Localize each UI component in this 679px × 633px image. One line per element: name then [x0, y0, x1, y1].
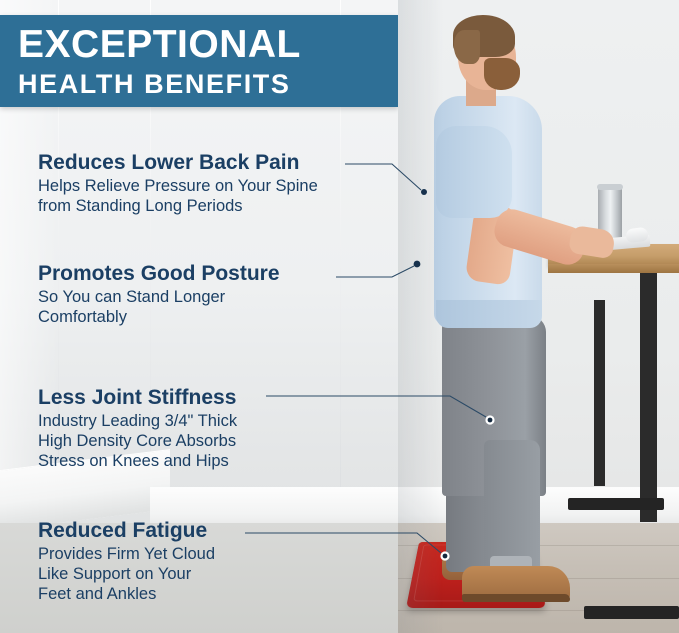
callout-dot-knee [488, 418, 493, 423]
callout-leader-lines [0, 0, 679, 633]
infographic-canvas: EXCEPTIONAL HEALTH BENEFITS Reduces Lowe… [0, 0, 679, 633]
leader-line-joint-stiffness [266, 396, 486, 417]
callout-dot-mat [443, 554, 448, 559]
callout-dot-back [421, 189, 427, 195]
leader-line-posture [336, 266, 414, 277]
callout-dot-posture [414, 261, 421, 268]
leader-line-back-pain [345, 164, 421, 190]
leader-line-fatigue [245, 533, 441, 553]
